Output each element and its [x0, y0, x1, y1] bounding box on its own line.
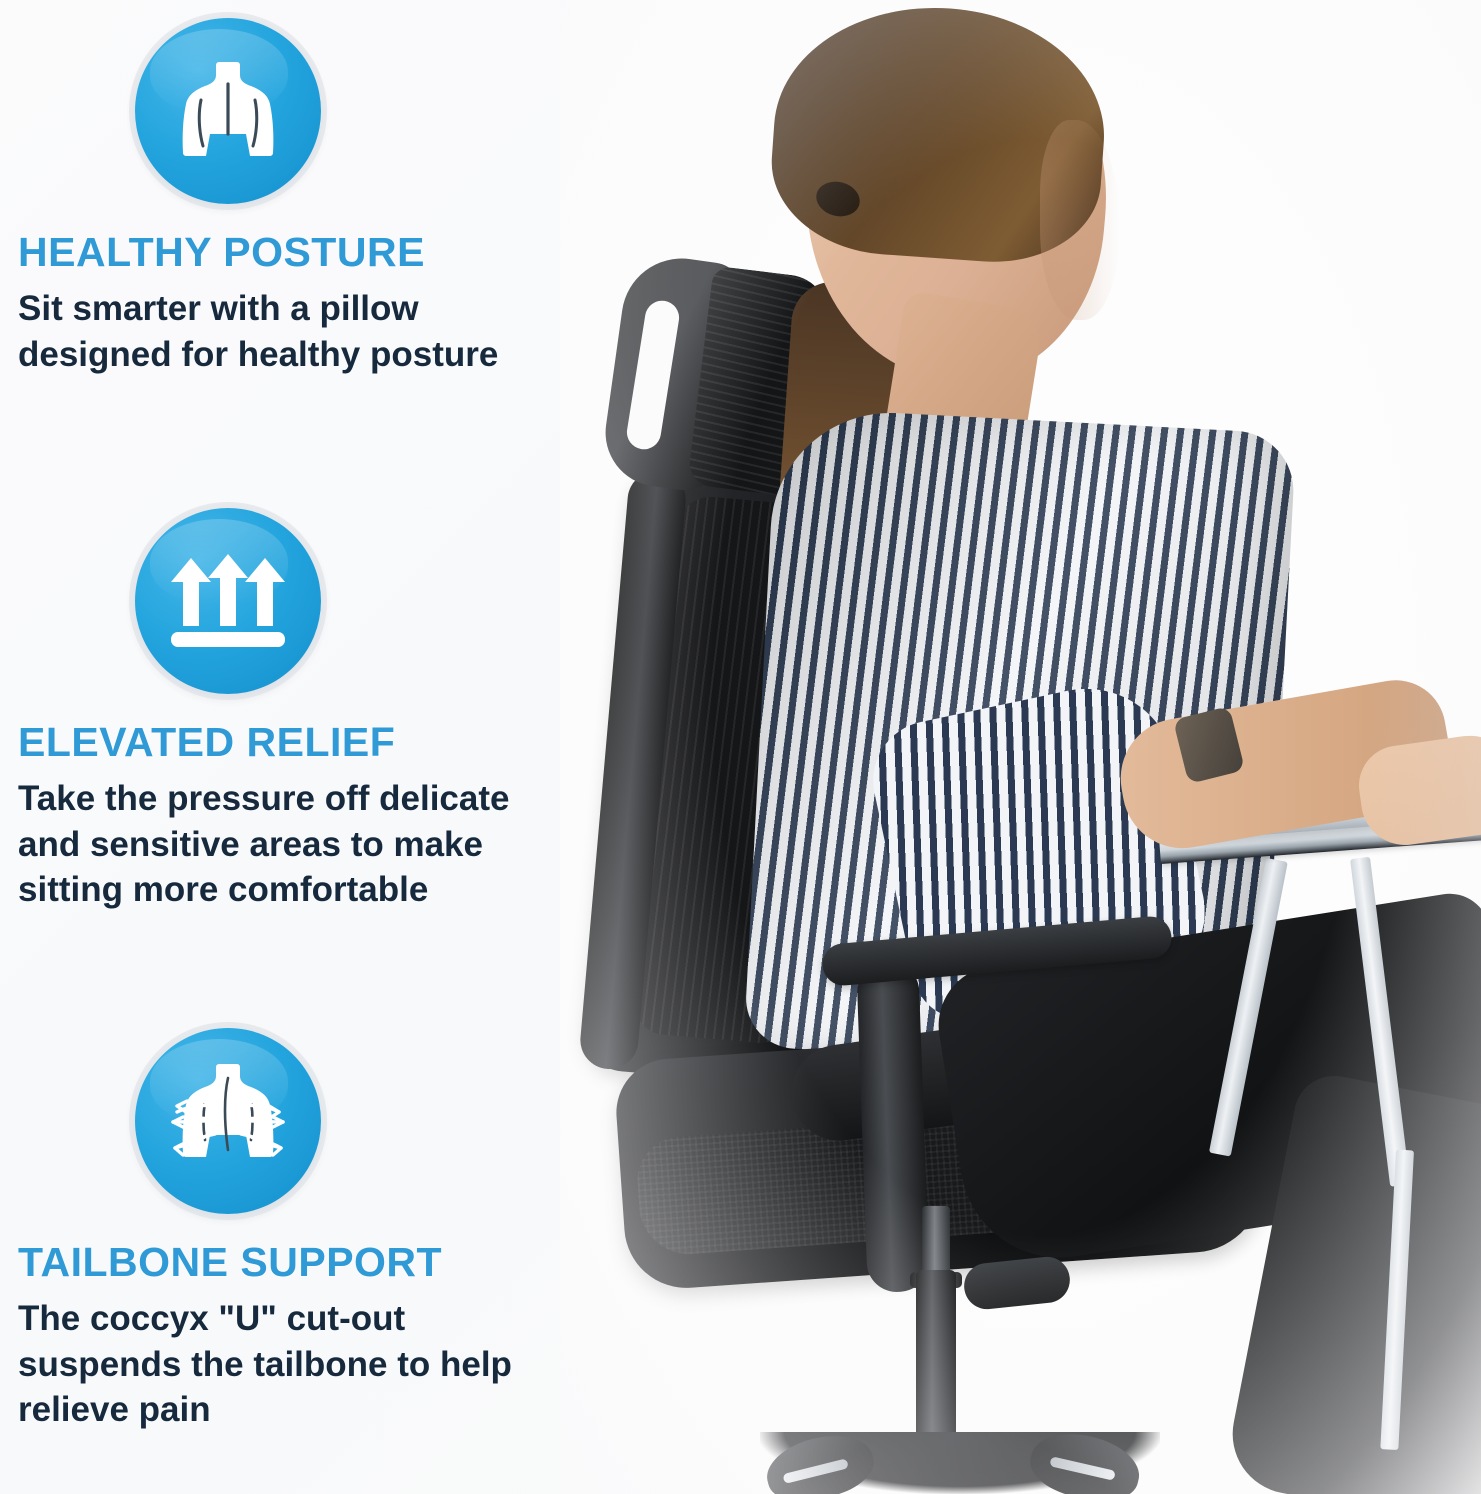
three-up-arrows-icon [135, 508, 321, 694]
feature-title: ELEVATED RELIEF [18, 720, 575, 764]
face-shading [1040, 120, 1120, 320]
product-photo [560, 0, 1481, 1494]
feature-item-healthy-posture: HEALTHY POSTURE Sit smarter with a pillo… [0, 18, 575, 377]
feature-title: TAILBONE SUPPORT [18, 1240, 575, 1284]
feature-icon-wrap [135, 508, 331, 704]
feature-body: Take the pressure off delicate and sensi… [18, 776, 575, 913]
feature-icon-wrap [135, 18, 331, 214]
tailbone-relief-icon [135, 1028, 321, 1214]
feature-icon-wrap [135, 1028, 331, 1224]
chair-armrest-stem [856, 961, 929, 1293]
product-feature-infographic: HEALTHY POSTURE Sit smarter with a pillo… [0, 0, 1481, 1494]
feature-title: HEALTHY POSTURE [18, 230, 575, 274]
feature-body: The coccyx "U" cut-out suspends the tail… [18, 1296, 563, 1433]
feature-body: Sit smarter with a pillow designed for h… [18, 286, 563, 377]
feature-item-elevated-relief: ELEVATED RELIEF Take the pressure off de… [0, 508, 575, 913]
posture-torso-icon [135, 18, 321, 204]
feature-list: HEALTHY POSTURE Sit smarter with a pillo… [0, 0, 575, 1494]
feature-item-tailbone-support: TAILBONE SUPPORT The coccyx "U" cut-out … [0, 1028, 575, 1433]
